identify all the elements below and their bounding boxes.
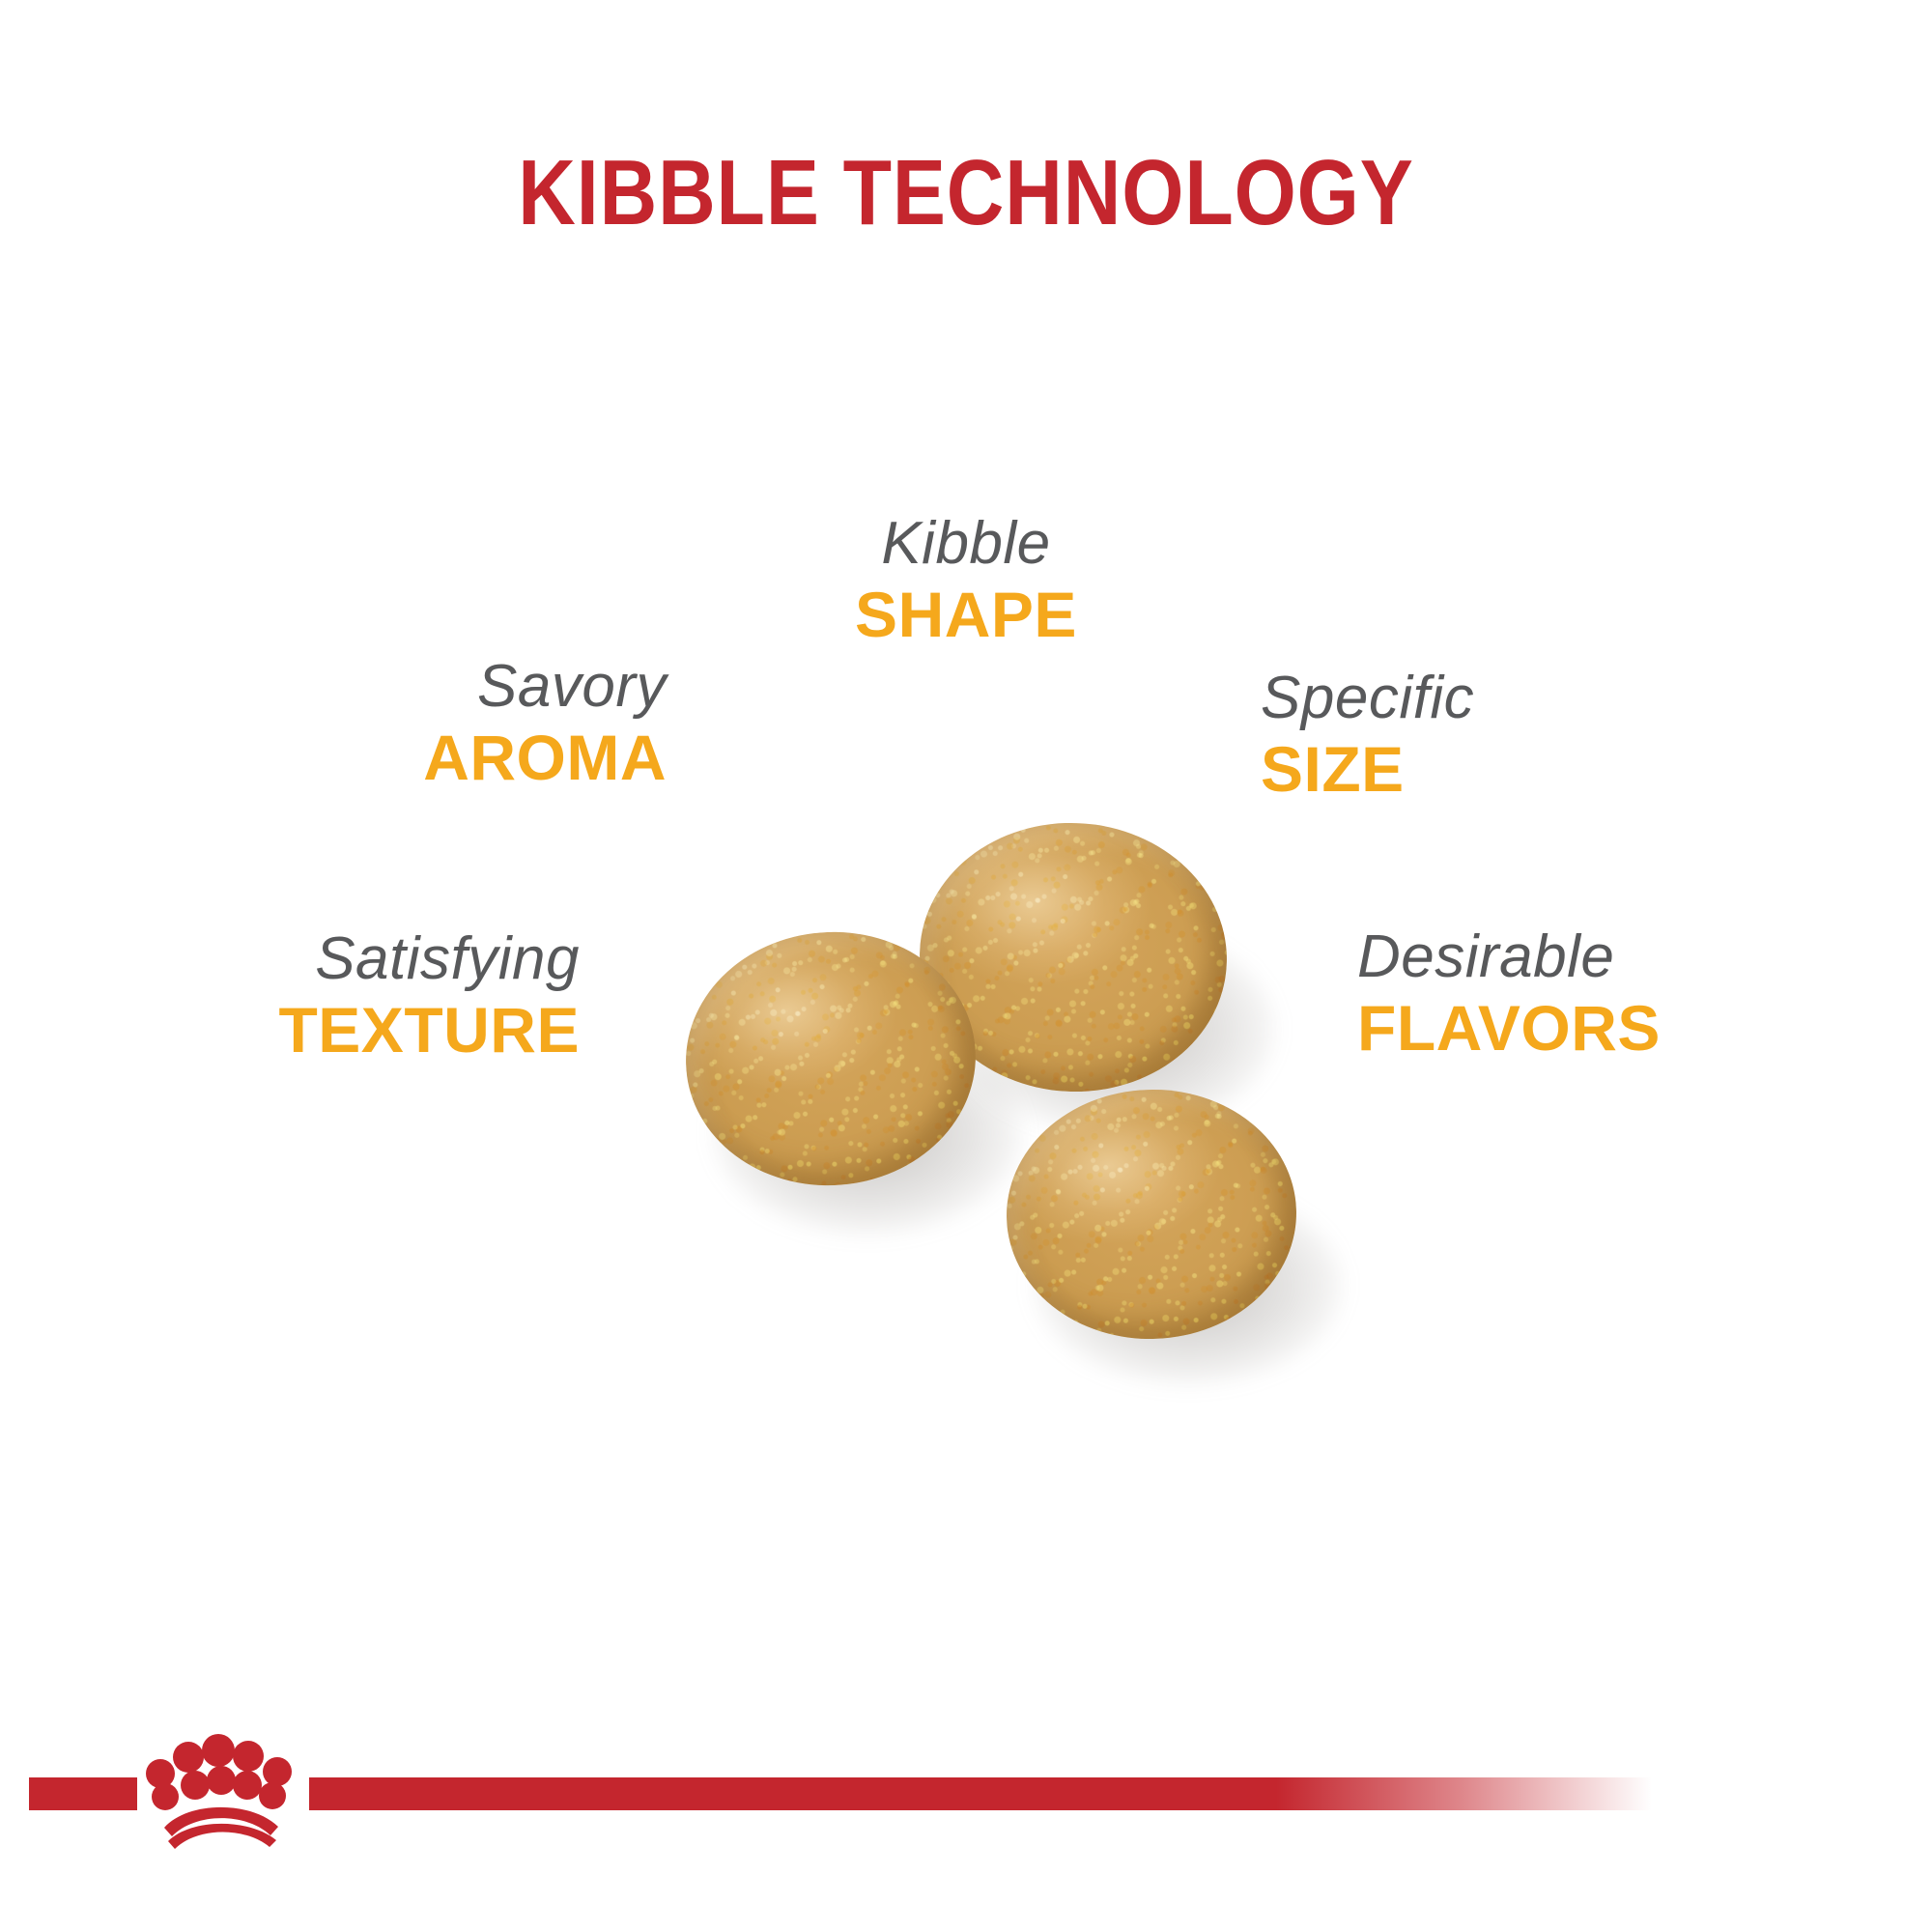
feature-shape-noun: SHAPE: [855, 581, 1077, 649]
footer-bar-left: [29, 1777, 137, 1810]
feature-texture-noun: TEXTURE: [278, 996, 580, 1065]
feature-label-flavors: Desirable FLAVORS: [1357, 925, 1661, 1063]
feature-shape-adjective: Kibble: [855, 512, 1077, 577]
feature-aroma-noun: AROMA: [423, 724, 667, 792]
kibble-photo: [667, 802, 1285, 1362]
feature-texture-adjective: Satisfying: [278, 927, 580, 992]
feature-label-shape: Kibble SHAPE: [855, 512, 1077, 649]
feature-label-texture: Satisfying TEXTURE: [278, 927, 580, 1065]
feature-aroma-adjective: Savory: [423, 655, 667, 720]
feature-flavors-noun: FLAVORS: [1357, 994, 1661, 1063]
feature-label-size: Specific SIZE: [1261, 667, 1474, 804]
feature-size-noun: SIZE: [1261, 735, 1474, 804]
footer-bar-right: [309, 1777, 1652, 1810]
poster-canvas: KIBBLE TECHNOLOGY Kibble SHAPE Savory AR…: [0, 0, 1932, 1932]
feature-label-aroma: Savory AROMA: [423, 655, 667, 792]
footer: [0, 1758, 1932, 1932]
feature-size-adjective: Specific: [1261, 667, 1474, 731]
feature-flavors-adjective: Desirable: [1357, 925, 1661, 990]
page-title: KIBBLE TECHNOLOGY: [135, 145, 1797, 242]
royal-canin-crown-icon: [135, 1727, 328, 1853]
